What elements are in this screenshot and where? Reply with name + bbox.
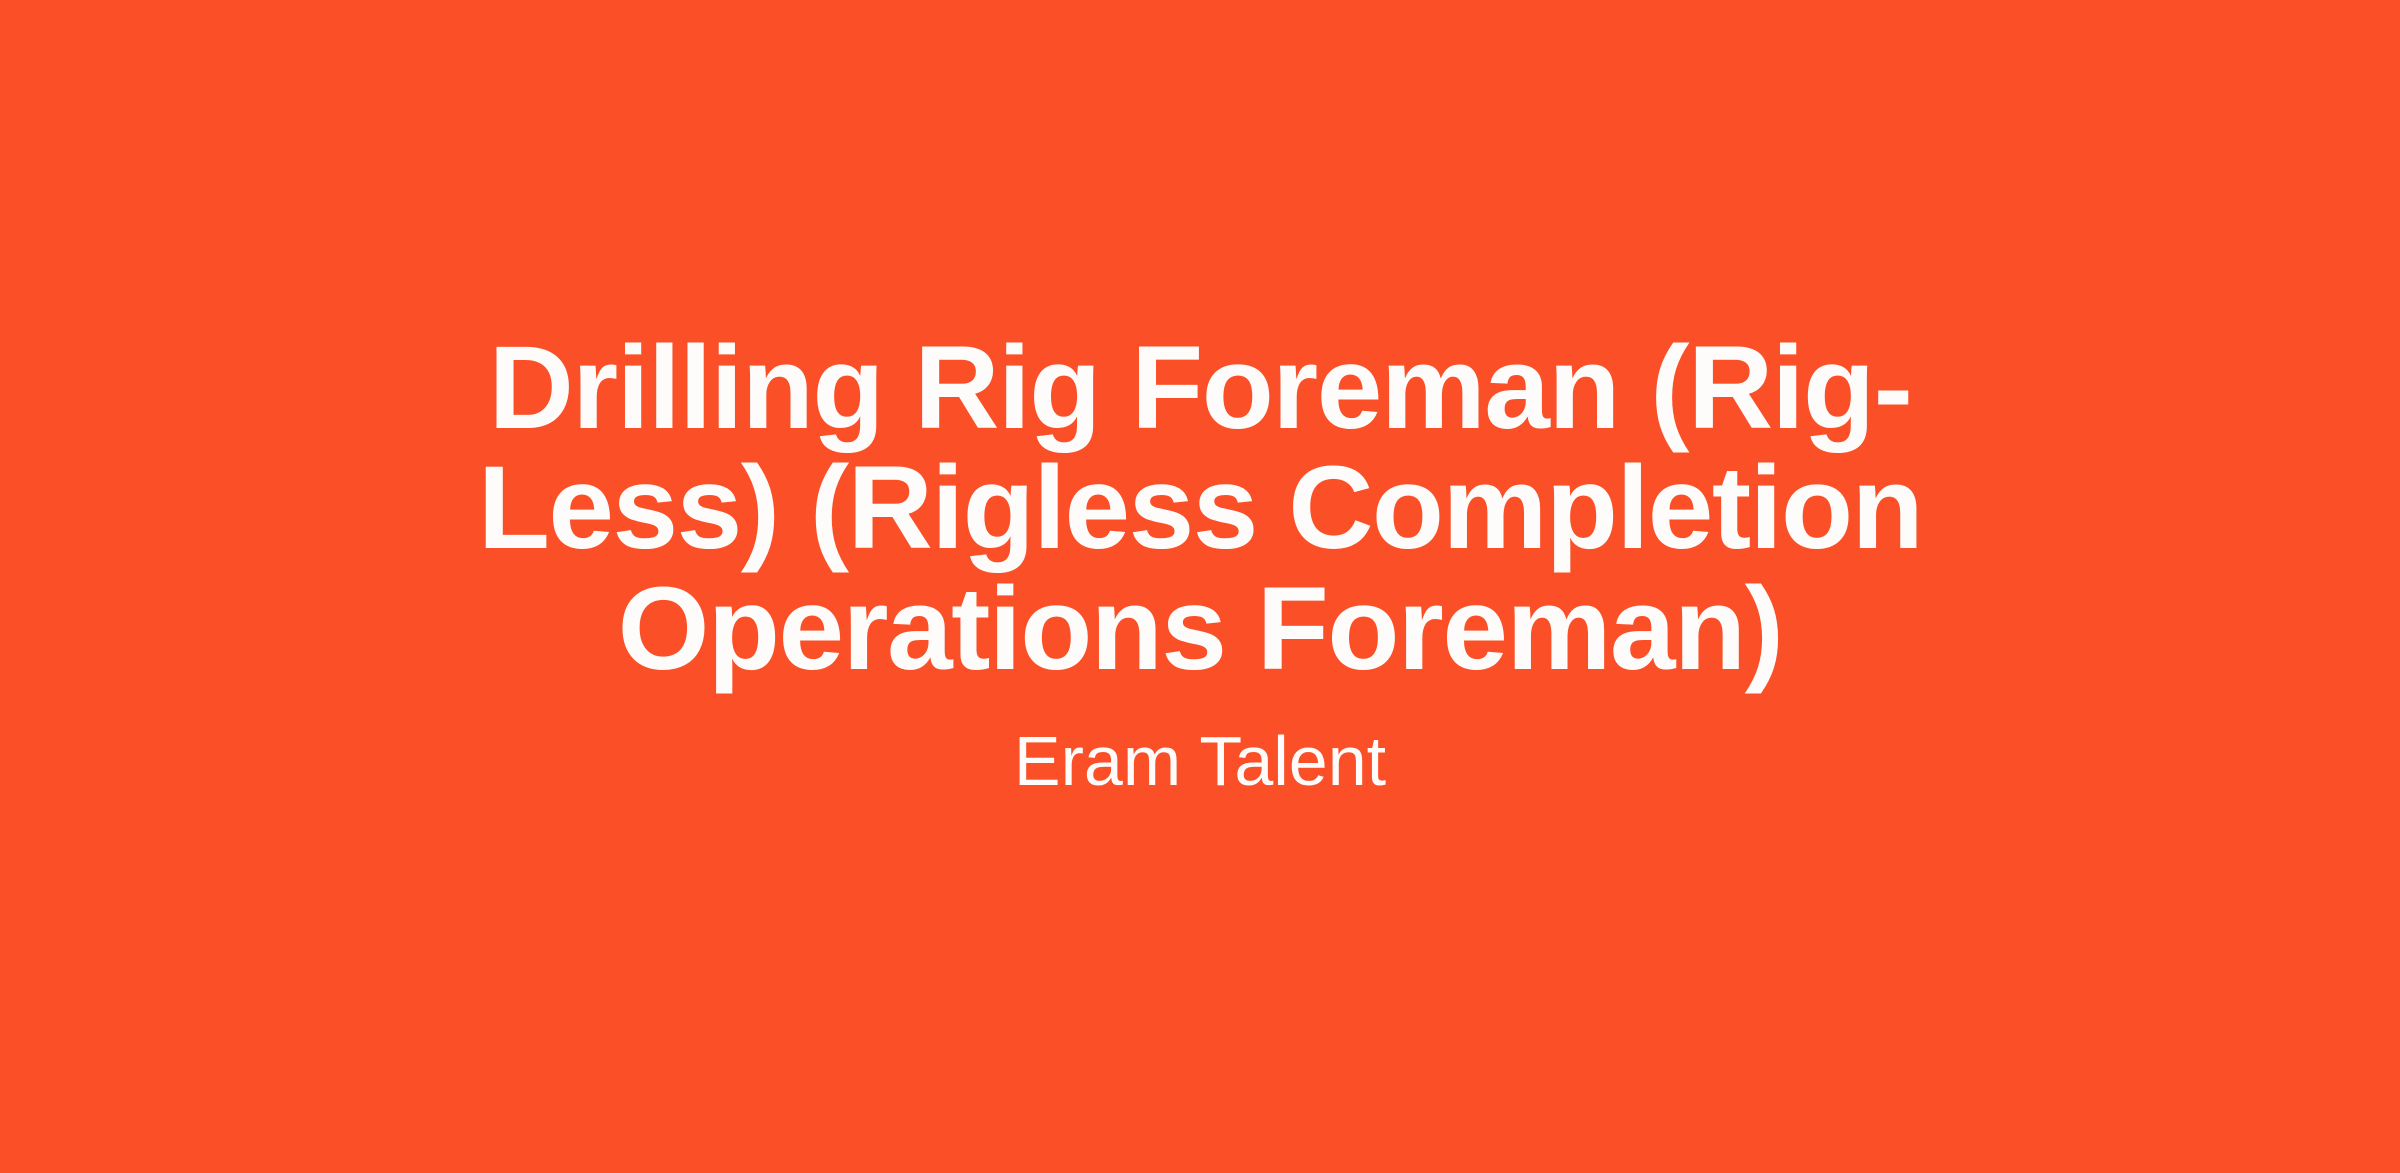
- poster-content: Drilling Rig Foreman (Rig-Less) (Rigless…: [350, 328, 2050, 803]
- company-name: Eram Talent: [1014, 719, 1386, 803]
- job-posting-poster: Drilling Rig Foreman (Rig-Less) (Rigless…: [0, 0, 2400, 1173]
- job-title: Drilling Rig Foreman (Rig-Less) (Rigless…: [430, 328, 1970, 689]
